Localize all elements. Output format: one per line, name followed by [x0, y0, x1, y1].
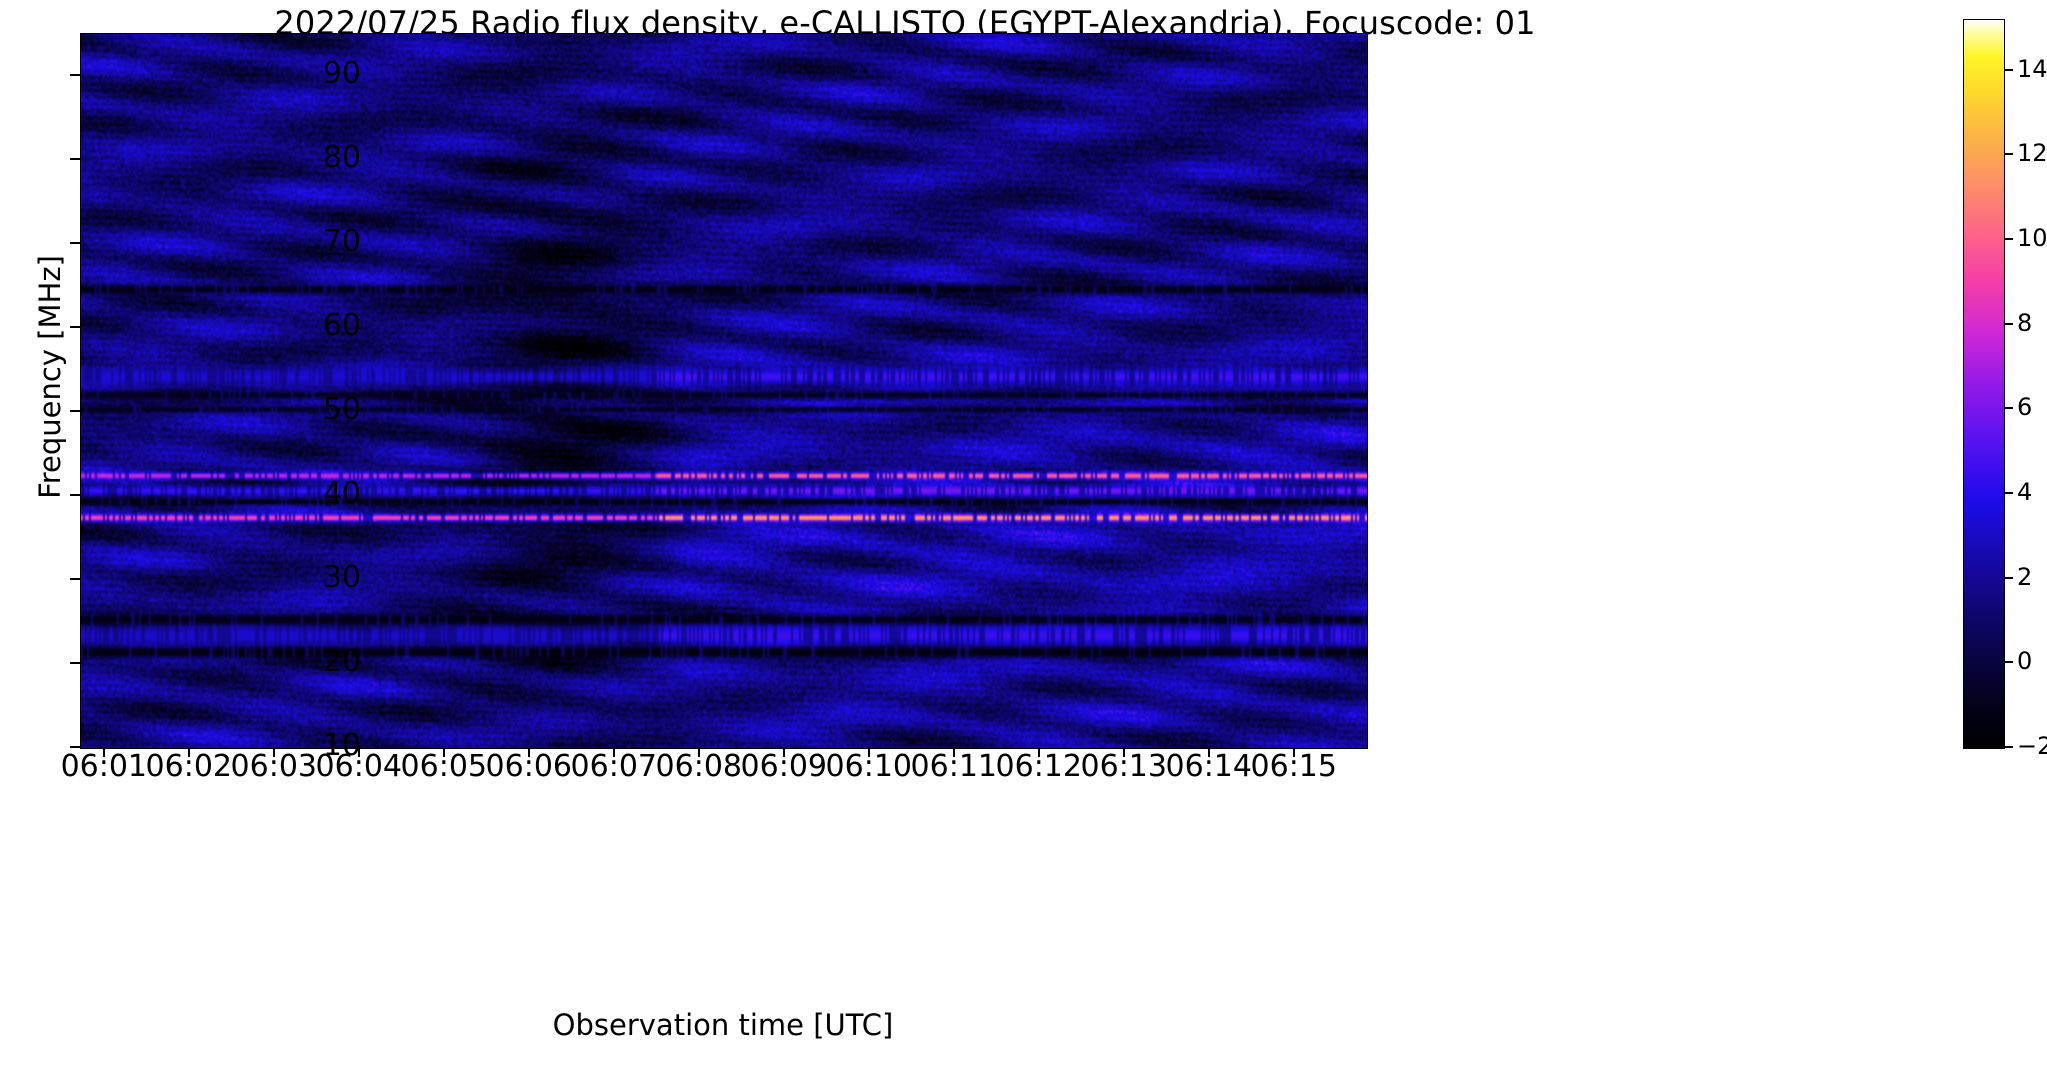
- y-axis-tick-mark: [70, 410, 80, 412]
- colorbar-tick-label: 6: [2017, 395, 2047, 419]
- y-axis-tick-label: 40: [241, 479, 361, 509]
- colorbar-tick-mark: [2004, 661, 2013, 663]
- colorbar-tick-mark: [2004, 238, 2013, 240]
- y-axis-tick-label: 70: [241, 227, 361, 257]
- y-axis-tick-mark: [70, 242, 80, 244]
- spectrogram-plot-area: [80, 33, 1368, 749]
- colorbar-tick-label: 0: [2017, 649, 2047, 673]
- colorbar-tick-mark: [2004, 323, 2013, 325]
- colorbar-tick-mark: [2004, 407, 2013, 409]
- colorbar-tick-mark: [2004, 69, 2013, 71]
- colorbar-tick-mark: [2004, 153, 2013, 155]
- colorbar: [1963, 19, 2005, 749]
- y-axis-tick-mark: [70, 74, 80, 76]
- colorbar-tick-label: 14: [2017, 57, 2047, 81]
- colorbar-tick-mark: [2004, 577, 2013, 579]
- colorbar-tick-label: 2: [2017, 565, 2047, 589]
- x-axis-tick-label: 06:15: [1214, 752, 1374, 782]
- y-axis-tick-label: 60: [241, 311, 361, 341]
- y-axis-tick-label: 30: [241, 563, 361, 593]
- colorbar-tick-label: 12: [2017, 141, 2047, 165]
- y-axis-tick-mark: [70, 578, 80, 580]
- colorbar-tick-label: −2: [2017, 734, 2047, 758]
- y-axis-tick-mark: [70, 158, 80, 160]
- colorbar-tick-label: 10: [2017, 226, 2047, 250]
- y-axis-tick-label: 80: [241, 143, 361, 173]
- x-axis-label: Observation time [UTC]: [80, 1008, 1366, 1042]
- y-axis-tick-mark: [70, 746, 80, 748]
- colorbar-tick-mark: [2004, 492, 2013, 494]
- colorbar-tick-label: 4: [2017, 480, 2047, 504]
- spectrogram-image: [81, 34, 1367, 748]
- y-axis-tick-mark: [70, 494, 80, 496]
- y-axis-tick-label: 90: [241, 59, 361, 89]
- colorbar-gradient: [1964, 20, 2004, 748]
- y-axis-tick-label: 20: [241, 647, 361, 677]
- y-axis-tick-mark: [70, 662, 80, 664]
- y-axis-tick-mark: [70, 326, 80, 328]
- colorbar-tick-mark: [2004, 746, 2013, 748]
- y-axis-tick-label: 50: [241, 395, 361, 425]
- y-axis-label: Frequency [MHz]: [33, 17, 67, 737]
- spectrogram-figure: 2022/07/25 Radio flux density, e-CALLIST…: [0, 0, 2047, 1067]
- colorbar-tick-label: 8: [2017, 311, 2047, 335]
